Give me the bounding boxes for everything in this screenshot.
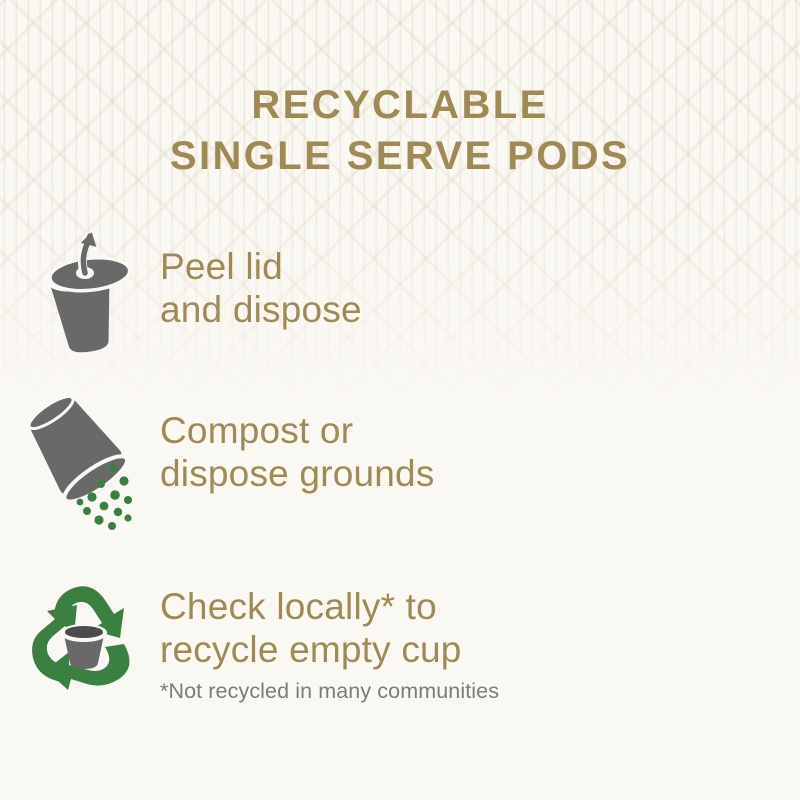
step-2-line-1: Compost or: [160, 410, 435, 453]
step-check-locally: Check locally* to recycle empty cup *Not…: [0, 578, 800, 705]
page-title: RECYCLABLE SINGLE SERVE PODS: [0, 80, 800, 182]
step-2-icon-wrap: [0, 396, 160, 531]
footnote-disclaimer: *Not recycled in many communities: [160, 679, 499, 705]
step-3-icon-wrap: [0, 578, 160, 690]
page-title-line-1: RECYCLABLE: [0, 80, 800, 131]
step-1-line-2: and dispose: [160, 289, 362, 332]
step-3-line-2: recycle empty cup: [160, 629, 499, 672]
step-3-text: Check locally* to recycle empty cup *Not…: [160, 578, 499, 705]
step-1-line-1: Peel lid: [160, 246, 362, 289]
step-compost-grounds: Compost or dispose grounds: [0, 396, 800, 531]
step-3-line-1: Check locally* to: [160, 586, 499, 629]
page-title-line-2: SINGLE SERVE PODS: [0, 131, 800, 182]
step-2-text: Compost or dispose grounds: [160, 396, 435, 496]
step-peel-lid: Peel lid and dispose: [0, 232, 800, 354]
peel-lid-cup-icon: [34, 232, 134, 354]
step-2-line-2: dispose grounds: [160, 453, 435, 496]
recyclable-pods-infographic: RECYCLABLE SINGLE SERVE PODS: [0, 0, 800, 800]
step-1-icon-wrap: [0, 232, 160, 354]
pour-grounds-cup-icon: [29, 396, 139, 531]
center-cup: [63, 626, 105, 669]
recycle-symbol-cup-icon: [25, 578, 143, 690]
step-1-text: Peel lid and dispose: [160, 232, 362, 332]
